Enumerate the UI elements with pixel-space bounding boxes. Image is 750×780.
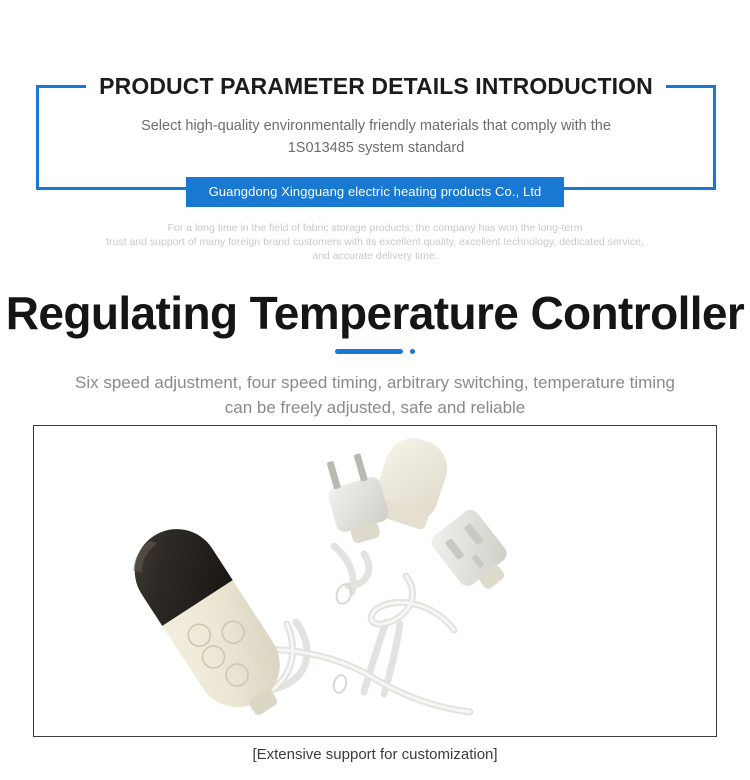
section-heading-text: PRODUCT PARAMETER DETAILS INTRODUCTION xyxy=(86,73,666,99)
company-name-badge: Guangdong Xingguang electric heating pro… xyxy=(186,177,564,207)
photo-caption: [Extensive support for customization] xyxy=(0,744,750,766)
product-photo xyxy=(34,426,716,736)
section-subheading-line-1: Select high-quality environmentally frie… xyxy=(76,115,676,137)
section-subheading: Select high-quality environmentally frie… xyxy=(76,115,676,159)
company-description-line-2: trust and support of many foreign brand … xyxy=(75,235,675,249)
product-photo-frame xyxy=(33,425,717,737)
product-title: Regulating Temperature Controller xyxy=(0,285,750,341)
section-heading: PRODUCT PARAMETER DETAILS INTRODUCTION xyxy=(36,72,716,100)
title-divider xyxy=(0,348,750,355)
frame-border-right xyxy=(713,85,716,190)
product-subtitle: Six speed adjustment, four speed timing,… xyxy=(55,370,695,420)
company-description-line-1: For a long time in the field of fabric s… xyxy=(75,221,675,235)
divider-bar xyxy=(335,349,403,354)
frame-border-bottom-right xyxy=(564,187,716,190)
divider-dot xyxy=(410,349,415,354)
header-frame: PRODUCT PARAMETER DETAILS INTRODUCTION S… xyxy=(36,85,716,190)
frame-border-bottom-left xyxy=(36,187,188,190)
product-subtitle-line-2: can be freely adjusted, safe and reliabl… xyxy=(55,395,695,420)
frame-border-left xyxy=(36,85,39,190)
section-subheading-line-2: 1S013485 system standard xyxy=(76,137,676,159)
product-subtitle-line-1: Six speed adjustment, four speed timing,… xyxy=(55,370,695,395)
company-description-line-3: and accurate delivery time. xyxy=(75,249,675,263)
company-description: For a long time in the field of fabric s… xyxy=(75,221,675,263)
